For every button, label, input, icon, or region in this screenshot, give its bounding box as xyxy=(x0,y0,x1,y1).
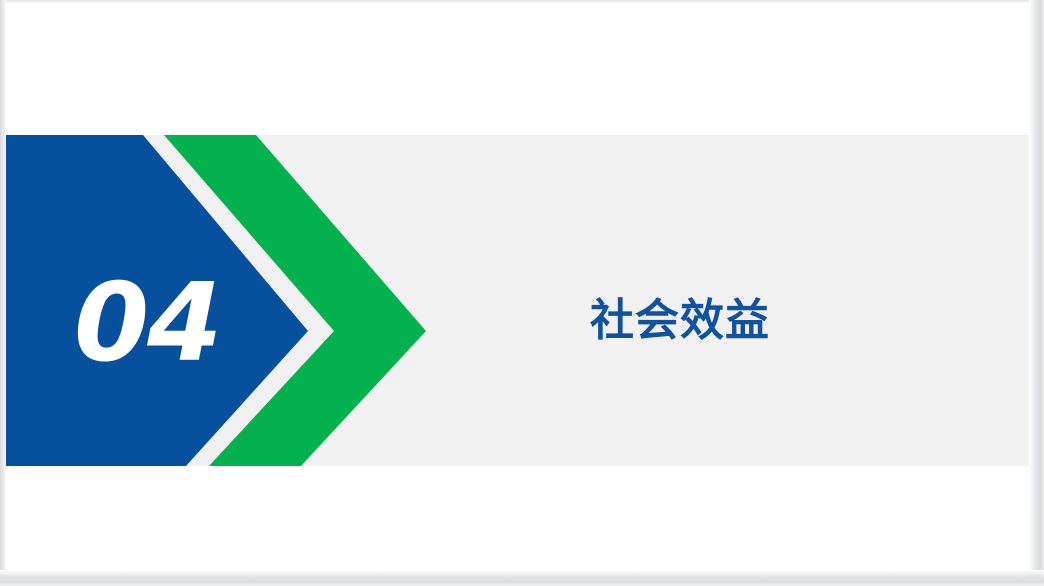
presentation-slide[interactable]: 04 社会效益 xyxy=(6,3,1030,572)
page-shadow-bottom xyxy=(0,570,1044,586)
page-shadow-right xyxy=(1029,0,1044,586)
section-number: 04 xyxy=(74,261,244,386)
slide-canvas: 04 社会效益 xyxy=(0,0,1044,586)
section-title: 社会效益 xyxy=(590,295,770,347)
